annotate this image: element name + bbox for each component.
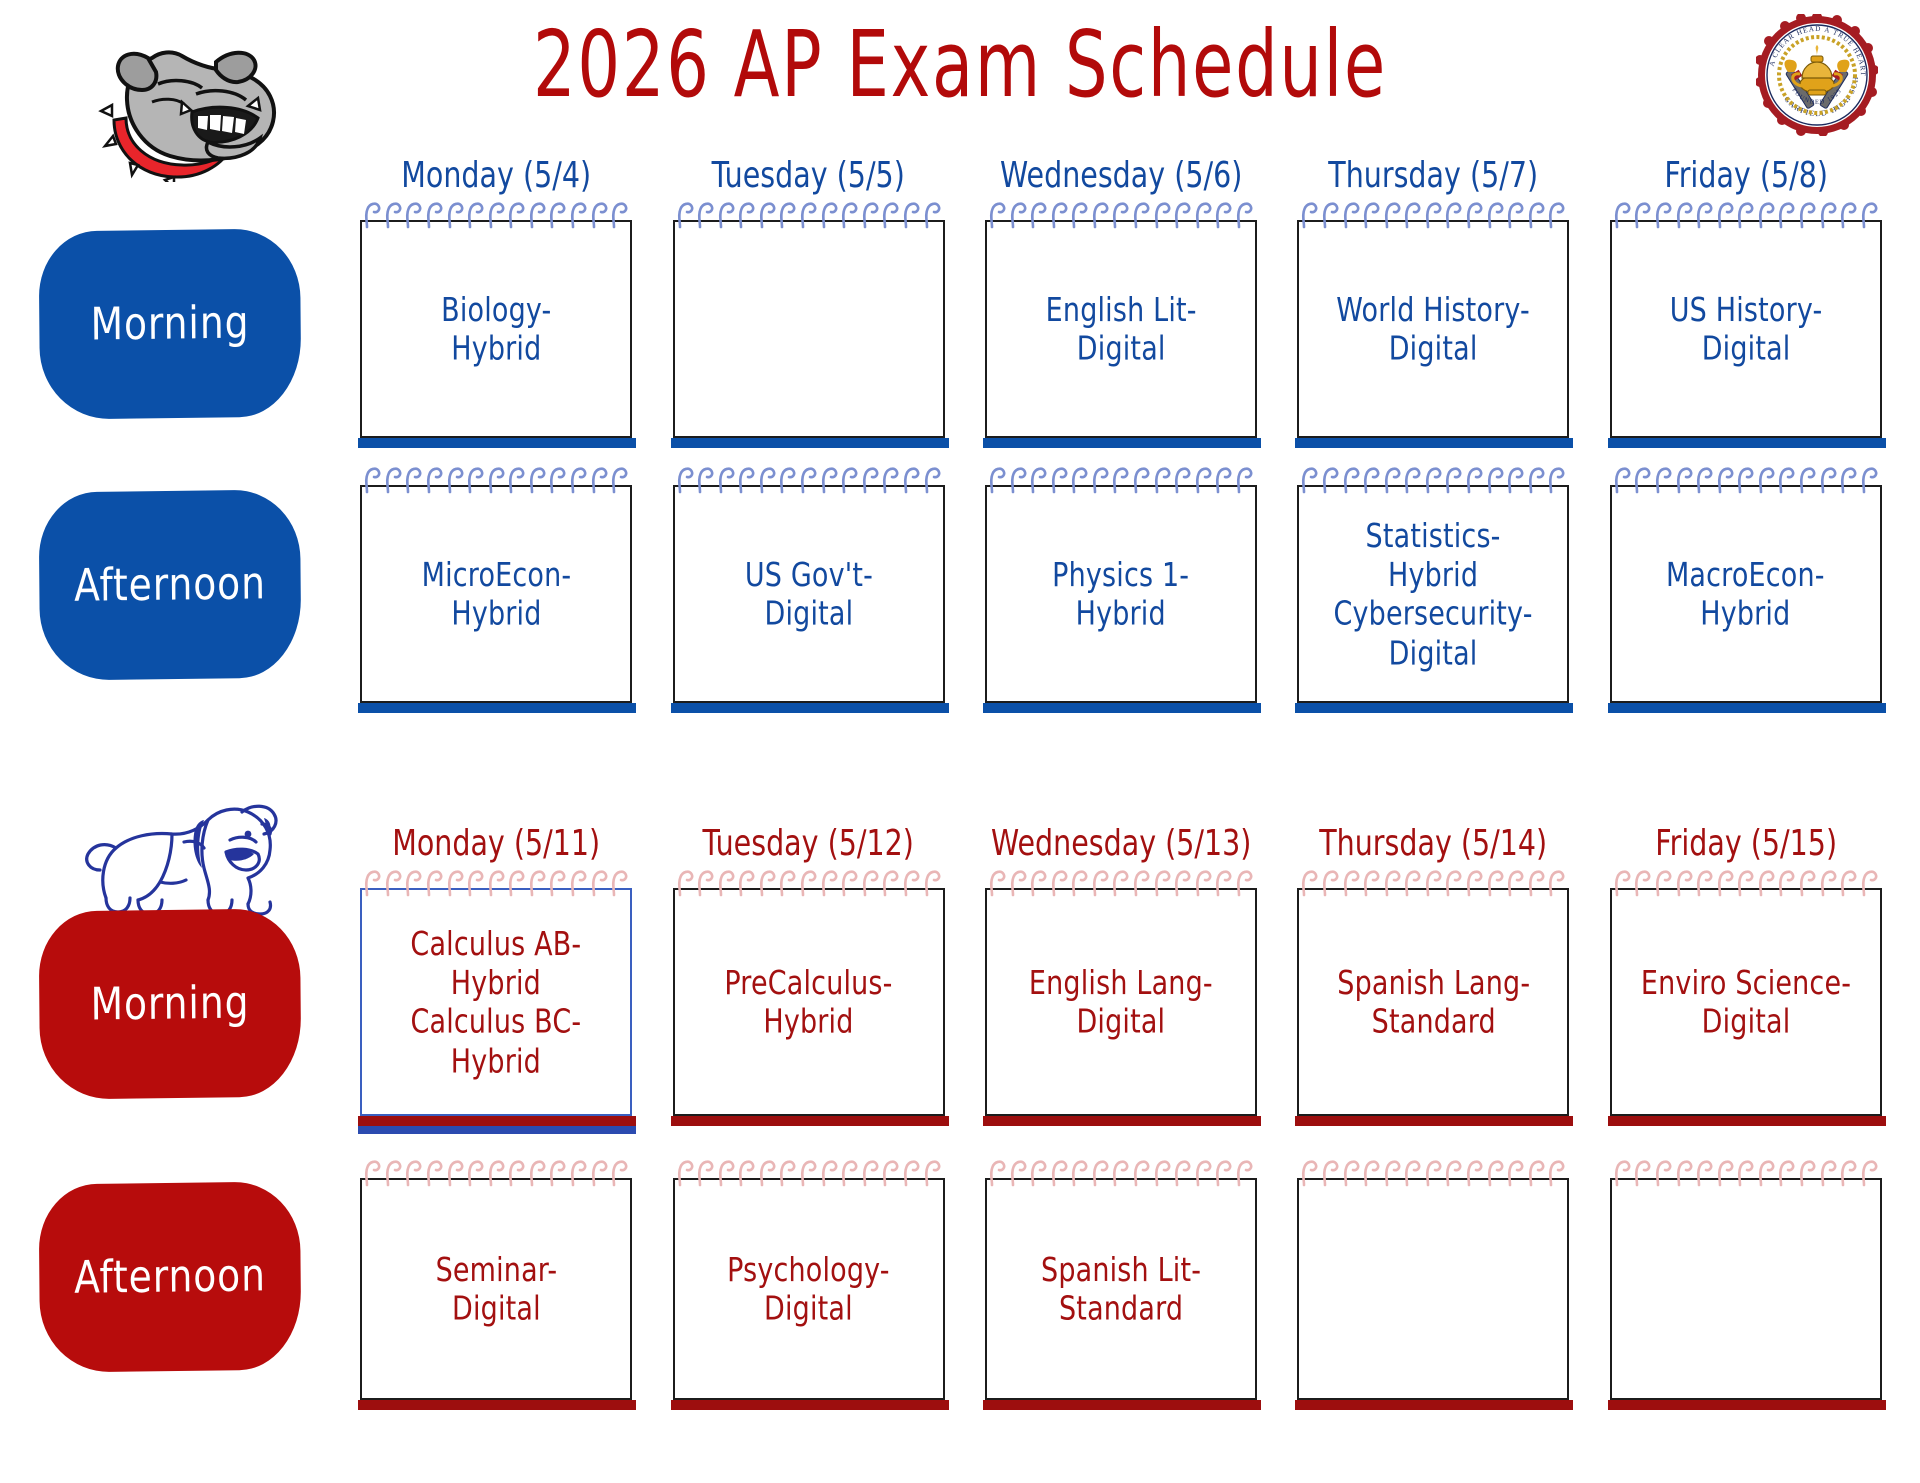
spiral-ring xyxy=(488,1159,505,1187)
spiral-ring xyxy=(385,869,402,897)
exam-text: Spanish Lang-Standard xyxy=(1331,963,1535,1041)
spiral-ring xyxy=(800,466,817,494)
spiral-ring xyxy=(1696,1159,1713,1187)
spiral-ring xyxy=(862,201,879,229)
spiral-ring xyxy=(529,466,546,494)
spiral-ring xyxy=(1548,466,1565,494)
spiral-ring xyxy=(1655,869,1672,897)
spiral-ring xyxy=(759,201,776,229)
week-1-morning-row: Morning Biology-Hybrid English Lit-Digit… xyxy=(0,198,1920,463)
spiral-ring xyxy=(841,869,858,897)
spiral-ring xyxy=(759,466,776,494)
spiral-ring xyxy=(924,1159,941,1187)
notepad-card[interactable]: Psychology-Digital xyxy=(673,1178,945,1400)
exam-cell-w2-thu-pm[interactable] xyxy=(1277,1156,1589,1411)
spiral-ring xyxy=(1236,869,1253,897)
day-header-monday: Monday (5/11) xyxy=(352,823,639,869)
spiral-ring xyxy=(1528,1159,1545,1187)
spiral-ring xyxy=(1614,1159,1631,1187)
notepad-card[interactable] xyxy=(673,220,945,438)
spiral-ring xyxy=(924,201,941,229)
spiral-ring xyxy=(862,466,879,494)
notepad-card[interactable]: PreCalculus-Hybrid xyxy=(673,888,945,1116)
spiral-ring xyxy=(1236,201,1253,229)
page-title: 2026 AP Exam Schedule xyxy=(134,12,1785,118)
spiral-ring xyxy=(1301,1159,1318,1187)
spiral-ring xyxy=(1820,201,1837,229)
spiral-ring xyxy=(549,466,566,494)
spiral-ring xyxy=(1676,201,1693,229)
day-header-thursday: Thursday (5/7) xyxy=(1290,155,1577,201)
spiral-ring xyxy=(738,201,755,229)
spiral-ring xyxy=(405,1159,422,1187)
spiral-binding xyxy=(364,1159,628,1189)
spiral-ring xyxy=(1322,201,1339,229)
spiral-ring xyxy=(1614,201,1631,229)
spiral-binding xyxy=(1614,869,1878,899)
period-label-afternoon-week1-cell: Afternoon xyxy=(0,463,340,721)
period-label-morning-week2-cell: Morning xyxy=(0,866,340,1156)
spiral-binding xyxy=(364,466,628,496)
spiral-ring xyxy=(549,869,566,897)
spiral-ring xyxy=(447,1159,464,1187)
period-label-morning-week1-cell: Morning xyxy=(0,198,340,463)
exam-text: Seminar-Digital xyxy=(430,1250,563,1328)
notepad-card[interactable]: World History-Digital xyxy=(1297,220,1569,438)
spiral-ring xyxy=(1614,869,1631,897)
exam-text: Spanish Lit-Standard xyxy=(1035,1250,1206,1328)
spiral-ring xyxy=(1236,466,1253,494)
notepad-card[interactable]: Calculus AB-HybridCalculus BC-Hybrid xyxy=(360,888,632,1116)
exam-cell-w1-thu-pm[interactable]: Statistics-HybridCybersecurity-Digital xyxy=(1277,463,1589,721)
spiral-ring xyxy=(467,869,484,897)
spiral-ring xyxy=(821,869,838,897)
week-2-morning-row: Morning Calculus AB-HybridCalculus BC-Hy… xyxy=(0,866,1920,1156)
spiral-ring xyxy=(1778,201,1795,229)
spiral-ring xyxy=(1717,466,1734,494)
day-header-monday: Monday (5/4) xyxy=(352,155,639,201)
spiral-binding xyxy=(677,201,941,231)
day-header-friday: Friday (5/8) xyxy=(1602,155,1889,201)
spiral-ring xyxy=(1071,869,1088,897)
spiral-ring xyxy=(1425,869,1442,897)
spiral-ring xyxy=(1195,1159,1212,1187)
spiral-ring xyxy=(426,466,443,494)
spiral-ring xyxy=(570,869,587,897)
spiral-ring xyxy=(1676,466,1693,494)
exam-cell-w2-wed-pm[interactable]: Spanish Lit-Standard xyxy=(965,1156,1277,1411)
exam-text: US History-Digital xyxy=(1664,290,1828,368)
spiral-ring xyxy=(1445,466,1462,494)
exam-text: Biology-Hybrid xyxy=(435,290,556,368)
spiral-ring xyxy=(1799,201,1816,229)
spiral-ring xyxy=(1051,466,1068,494)
spiral-ring xyxy=(924,869,941,897)
spiral-ring xyxy=(1384,869,1401,897)
notepad-card[interactable]: Physics 1-Hybrid xyxy=(985,485,1257,703)
spiral-ring xyxy=(677,201,694,229)
exam-cell-w2-fri-am[interactable]: Enviro Science-Digital xyxy=(1590,866,1902,1156)
spiral-ring xyxy=(1861,201,1878,229)
spiral-ring xyxy=(1445,869,1462,897)
spiral-binding xyxy=(989,869,1253,899)
spiral-ring xyxy=(591,869,608,897)
spiral-ring xyxy=(426,869,443,897)
spiral-ring xyxy=(1112,869,1129,897)
spiral-ring xyxy=(800,201,817,229)
spiral-ring xyxy=(405,201,422,229)
spiral-ring xyxy=(1820,466,1837,494)
spiral-ring xyxy=(1487,201,1504,229)
spiral-ring xyxy=(508,466,525,494)
spiral-ring xyxy=(1071,201,1088,229)
spiral-ring xyxy=(1655,201,1672,229)
exam-text: English Lang-Digital xyxy=(1023,963,1218,1041)
spiral-ring xyxy=(1112,466,1129,494)
spiral-ring xyxy=(1758,201,1775,229)
spiral-ring xyxy=(1466,466,1483,494)
spiral-ring xyxy=(1758,869,1775,897)
spiral-ring xyxy=(1195,869,1212,897)
spiral-ring xyxy=(1404,1159,1421,1187)
exam-text: Physics 1-Hybrid xyxy=(1047,555,1195,633)
spiral-ring xyxy=(1174,1159,1191,1187)
spiral-ring xyxy=(1301,869,1318,897)
spiral-ring xyxy=(1861,466,1878,494)
spiral-ring xyxy=(1507,201,1524,229)
spiral-ring xyxy=(1404,466,1421,494)
spiral-ring xyxy=(903,1159,920,1187)
spiral-binding xyxy=(1614,201,1878,231)
spiral-ring xyxy=(1010,1159,1027,1187)
spiral-ring xyxy=(1466,869,1483,897)
spiral-ring xyxy=(841,1159,858,1187)
spiral-ring xyxy=(1676,869,1693,897)
spiral-ring xyxy=(570,201,587,229)
spiral-ring xyxy=(738,466,755,494)
spiral-ring xyxy=(447,201,464,229)
spiral-ring xyxy=(1215,466,1232,494)
spiral-ring xyxy=(364,1159,381,1187)
spiral-ring xyxy=(385,1159,402,1187)
spiral-ring xyxy=(1425,201,1442,229)
exam-cell-w1-fri-pm[interactable]: MacroEcon-Hybrid xyxy=(1590,463,1902,721)
spiral-ring xyxy=(570,1159,587,1187)
spiral-ring xyxy=(508,1159,525,1187)
spiral-ring xyxy=(1487,466,1504,494)
spiral-ring xyxy=(1737,201,1754,229)
notepad-card[interactable]: US Gov't-Digital xyxy=(673,485,945,703)
spiral-ring xyxy=(882,201,899,229)
spiral-ring xyxy=(405,869,422,897)
spiral-ring xyxy=(1861,869,1878,897)
spiral-ring xyxy=(1133,201,1150,229)
spiral-ring xyxy=(1425,466,1442,494)
spiral-binding xyxy=(989,1159,1253,1189)
spiral-ring xyxy=(1363,1159,1380,1187)
exam-cell-w1-wed-am[interactable]: English Lit-Digital xyxy=(965,198,1277,463)
spiral-ring xyxy=(364,869,381,897)
spiral-binding xyxy=(677,869,941,899)
week-2-day-headers: Monday (5/11) Tuesday (5/12) Wednesday (… xyxy=(0,826,1920,866)
spiral-ring xyxy=(529,201,546,229)
spiral-ring xyxy=(718,201,735,229)
spiral-ring xyxy=(1404,201,1421,229)
spiral-ring xyxy=(1195,201,1212,229)
exam-cell-w1-fri-am[interactable]: US History-Digital xyxy=(1590,198,1902,463)
exam-text: MicroEcon-Hybrid xyxy=(416,555,577,633)
week-1-section: Monday (5/4) Tuesday (5/5) Wednesday (5/… xyxy=(0,158,1920,721)
spiral-ring xyxy=(529,1159,546,1187)
spiral-ring xyxy=(1030,1159,1047,1187)
spiral-ring xyxy=(1343,1159,1360,1187)
week-1-afternoon-row: Afternoon MicroEcon-Hybrid US Gov't-Digi… xyxy=(0,463,1920,721)
notepad-card[interactable]: English Lit-Digital xyxy=(985,220,1257,438)
notepad-card[interactable]: MacroEcon-Hybrid xyxy=(1610,485,1882,703)
spiral-ring xyxy=(1840,201,1857,229)
spiral-binding xyxy=(1614,1159,1878,1189)
spiral-ring xyxy=(1655,1159,1672,1187)
spiral-ring xyxy=(1051,201,1068,229)
notepad-card[interactable]: English Lang-Digital xyxy=(985,888,1257,1116)
spiral-ring xyxy=(1030,466,1047,494)
spiral-ring xyxy=(591,201,608,229)
spiral-ring xyxy=(1133,1159,1150,1187)
spiral-ring xyxy=(447,466,464,494)
spiral-ring xyxy=(426,201,443,229)
spiral-ring xyxy=(1528,201,1545,229)
spiral-ring xyxy=(1384,201,1401,229)
exam-text: Statistics-HybridCybersecurity-Digital xyxy=(1328,516,1538,672)
spiral-ring xyxy=(385,201,402,229)
exam-cell-w2-tue-pm[interactable]: Psychology-Digital xyxy=(652,1156,964,1411)
spiral-ring xyxy=(1215,1159,1232,1187)
spiral-ring xyxy=(1737,869,1754,897)
exam-text: English Lit-Digital xyxy=(1040,290,1202,368)
spiral-ring xyxy=(1799,466,1816,494)
exam-text: Psychology-Digital xyxy=(722,1250,896,1328)
period-label-afternoon-week2-cell: Afternoon xyxy=(0,1156,340,1411)
spiral-ring xyxy=(1840,466,1857,494)
spiral-ring xyxy=(697,1159,714,1187)
spiral-ring xyxy=(1071,1159,1088,1187)
spiral-ring xyxy=(759,1159,776,1187)
period-label-afternoon: Afternoon xyxy=(39,1181,302,1372)
spiral-ring xyxy=(1301,466,1318,494)
exam-text: Enviro Science-Digital xyxy=(1635,963,1856,1041)
spiral-ring xyxy=(467,201,484,229)
spiral-ring xyxy=(841,466,858,494)
notepad-card[interactable]: Statistics-HybridCybersecurity-Digital xyxy=(1297,485,1569,703)
spiral-ring xyxy=(611,201,628,229)
spiral-ring xyxy=(1425,1159,1442,1187)
spiral-ring xyxy=(467,1159,484,1187)
week-2-afternoon-row: Afternoon Seminar-Digital Psychology-Dig… xyxy=(0,1156,1920,1411)
spiral-ring xyxy=(1507,466,1524,494)
period-label-morning: Morning xyxy=(39,228,302,419)
spiral-ring xyxy=(1778,869,1795,897)
spiral-ring xyxy=(1655,466,1672,494)
notepad-card[interactable]: Spanish Lit-Standard xyxy=(985,1178,1257,1400)
ap-exam-schedule-page: 2026 AP Exam Schedule xyxy=(0,0,1920,1483)
spiral-ring xyxy=(1071,466,1088,494)
spiral-ring xyxy=(1696,869,1713,897)
spiral-ring xyxy=(1840,869,1857,897)
notepad-card[interactable]: Biology-Hybrid xyxy=(360,220,632,438)
day-header-tuesday: Tuesday (5/5) xyxy=(665,155,952,201)
spiral-ring xyxy=(1778,1159,1795,1187)
exam-cell-w2-mon-pm[interactable]: Seminar-Digital xyxy=(340,1156,652,1411)
spiral-ring xyxy=(1676,1159,1693,1187)
spiral-ring xyxy=(1174,201,1191,229)
exam-cell-w1-tue-pm[interactable]: US Gov't-Digital xyxy=(652,463,964,721)
spiral-ring xyxy=(738,869,755,897)
spiral-ring xyxy=(1363,466,1380,494)
spiral-ring xyxy=(1696,466,1713,494)
notepad-card[interactable]: US History-Digital xyxy=(1610,220,1882,438)
spiral-ring xyxy=(924,466,941,494)
spiral-ring xyxy=(1445,1159,1462,1187)
notepad-card[interactable]: Enviro Science-Digital xyxy=(1610,888,1882,1116)
spiral-ring xyxy=(1614,466,1631,494)
spiral-ring xyxy=(611,869,628,897)
spiral-ring xyxy=(1301,201,1318,229)
spiral-ring xyxy=(447,869,464,897)
spiral-ring xyxy=(1010,466,1027,494)
spiral-ring xyxy=(1112,201,1129,229)
spiral-ring xyxy=(1507,869,1524,897)
spiral-ring xyxy=(718,869,735,897)
spiral-ring xyxy=(697,201,714,229)
week-2-section: Monday (5/11) Tuesday (5/12) Wednesday (… xyxy=(0,826,1920,1411)
spiral-ring xyxy=(488,869,505,897)
spiral-ring xyxy=(862,1159,879,1187)
exam-cell-w1-wed-pm[interactable]: Physics 1-Hybrid xyxy=(965,463,1277,721)
spiral-ring xyxy=(821,201,838,229)
spiral-binding xyxy=(1301,466,1565,496)
spiral-ring xyxy=(903,201,920,229)
spiral-ring xyxy=(759,869,776,897)
spiral-ring xyxy=(549,1159,566,1187)
spiral-ring xyxy=(718,466,735,494)
spiral-ring xyxy=(611,1159,628,1187)
spiral-ring xyxy=(1634,201,1651,229)
exam-cell-w1-mon-am[interactable]: Biology-Hybrid xyxy=(340,198,652,463)
exam-text: US Gov't-Digital xyxy=(739,555,878,633)
exam-cell-w2-wed-am[interactable]: English Lang-Digital xyxy=(965,866,1277,1156)
spiral-ring xyxy=(903,869,920,897)
spiral-ring xyxy=(697,466,714,494)
spiral-ring xyxy=(718,1159,735,1187)
spiral-ring xyxy=(1174,466,1191,494)
spiral-ring xyxy=(508,869,525,897)
spiral-ring xyxy=(1528,466,1545,494)
spiral-ring xyxy=(1010,869,1027,897)
spiral-ring xyxy=(989,869,1006,897)
spiral-ring xyxy=(989,1159,1006,1187)
week-1-day-headers: Monday (5/4) Tuesday (5/5) Wednesday (5/… xyxy=(0,158,1920,198)
notepad-card[interactable]: MicroEcon-Hybrid xyxy=(360,485,632,703)
spiral-binding xyxy=(1301,869,1565,899)
spiral-ring xyxy=(800,1159,817,1187)
notepad-card[interactable] xyxy=(1610,1178,1882,1400)
exam-cell-w2-mon-am[interactable]: Calculus AB-HybridCalculus BC-Hybrid xyxy=(340,866,652,1156)
spiral-ring xyxy=(1195,466,1212,494)
spiral-ring xyxy=(1092,1159,1109,1187)
spiral-ring xyxy=(841,201,858,229)
spiral-ring xyxy=(779,466,796,494)
exam-cell-w2-thu-am[interactable]: Spanish Lang-Standard xyxy=(1277,866,1589,1156)
spiral-ring xyxy=(1717,869,1734,897)
spiral-ring xyxy=(508,201,525,229)
spiral-ring xyxy=(738,1159,755,1187)
spiral-ring xyxy=(1051,869,1068,897)
spiral-ring xyxy=(1133,869,1150,897)
spiral-ring xyxy=(1051,1159,1068,1187)
notepad-card[interactable]: Spanish Lang-Standard xyxy=(1297,888,1569,1116)
spiral-ring xyxy=(1092,201,1109,229)
spiral-ring xyxy=(1466,201,1483,229)
spiral-ring xyxy=(882,869,899,897)
spiral-ring xyxy=(1861,1159,1878,1187)
exam-cell-w1-thu-am[interactable]: World History-Digital xyxy=(1277,198,1589,463)
spiral-ring xyxy=(426,1159,443,1187)
spiral-ring xyxy=(1404,869,1421,897)
spiral-ring xyxy=(1717,201,1734,229)
spiral-ring xyxy=(1634,466,1651,494)
spiral-ring xyxy=(1799,869,1816,897)
exam-text: MacroEcon-Hybrid xyxy=(1661,555,1831,633)
spiral-ring xyxy=(1737,466,1754,494)
school-seal-logo: A CLEAR HEAD A TRUE HEART A STRONG ARM G… xyxy=(1756,14,1878,136)
spiral-ring xyxy=(1548,869,1565,897)
spiral-ring xyxy=(1799,1159,1816,1187)
spiral-ring xyxy=(903,466,920,494)
spiral-ring xyxy=(549,201,566,229)
spiral-ring xyxy=(1696,201,1713,229)
spiral-ring xyxy=(1174,869,1191,897)
day-header-wednesday: Wednesday (5/13) xyxy=(977,823,1264,869)
exam-cell-w1-mon-pm[interactable]: MicroEcon-Hybrid xyxy=(340,463,652,721)
spiral-ring xyxy=(1030,869,1047,897)
spiral-binding xyxy=(677,466,941,496)
spiral-ring xyxy=(882,466,899,494)
exam-cell-w2-tue-am[interactable]: PreCalculus-Hybrid xyxy=(652,866,964,1156)
notepad-card[interactable] xyxy=(1297,1178,1569,1400)
spiral-ring xyxy=(1487,869,1504,897)
exam-cell-w1-tue-am[interactable] xyxy=(652,198,964,463)
spiral-ring xyxy=(989,201,1006,229)
spiral-ring xyxy=(1322,466,1339,494)
spiral-ring xyxy=(1363,869,1380,897)
spiral-binding xyxy=(1614,466,1878,496)
spiral-ring xyxy=(1343,466,1360,494)
spiral-ring xyxy=(1133,466,1150,494)
spiral-ring xyxy=(1010,201,1027,229)
day-header-thursday: Thursday (5/14) xyxy=(1290,823,1577,869)
exam-cell-w2-fri-pm[interactable] xyxy=(1590,1156,1902,1411)
spiral-ring xyxy=(1758,466,1775,494)
spiral-ring xyxy=(1154,201,1171,229)
spiral-ring xyxy=(1634,869,1651,897)
spiral-ring xyxy=(1154,869,1171,897)
spiral-ring xyxy=(1840,1159,1857,1187)
notepad-card[interactable]: Seminar-Digital xyxy=(360,1178,632,1400)
spiral-ring xyxy=(1528,869,1545,897)
spiral-ring xyxy=(677,869,694,897)
spiral-ring xyxy=(1030,201,1047,229)
spiral-ring xyxy=(1445,201,1462,229)
